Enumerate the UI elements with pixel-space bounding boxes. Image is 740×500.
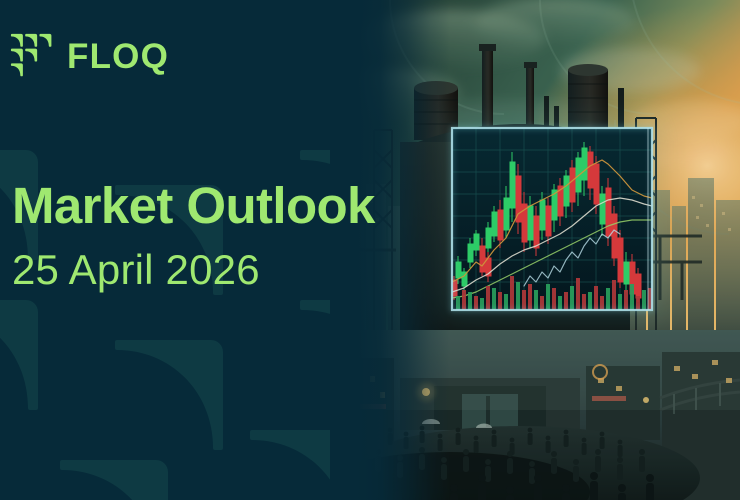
- leaf-grid-icon: [10, 33, 56, 79]
- brand-wordmark: FLOQ: [67, 39, 169, 74]
- text-panel: FLOQ Market Outlook 25 April 2026: [0, 0, 400, 500]
- page-date: 25 April 2026: [12, 246, 375, 293]
- brand-logo[interactable]: FLOQ: [10, 33, 169, 79]
- headline-block: Market Outlook 25 April 2026: [12, 178, 375, 293]
- marketing-banner: FLOQ Market Outlook 25 April 2026: [0, 0, 740, 500]
- page-title: Market Outlook: [12, 178, 375, 233]
